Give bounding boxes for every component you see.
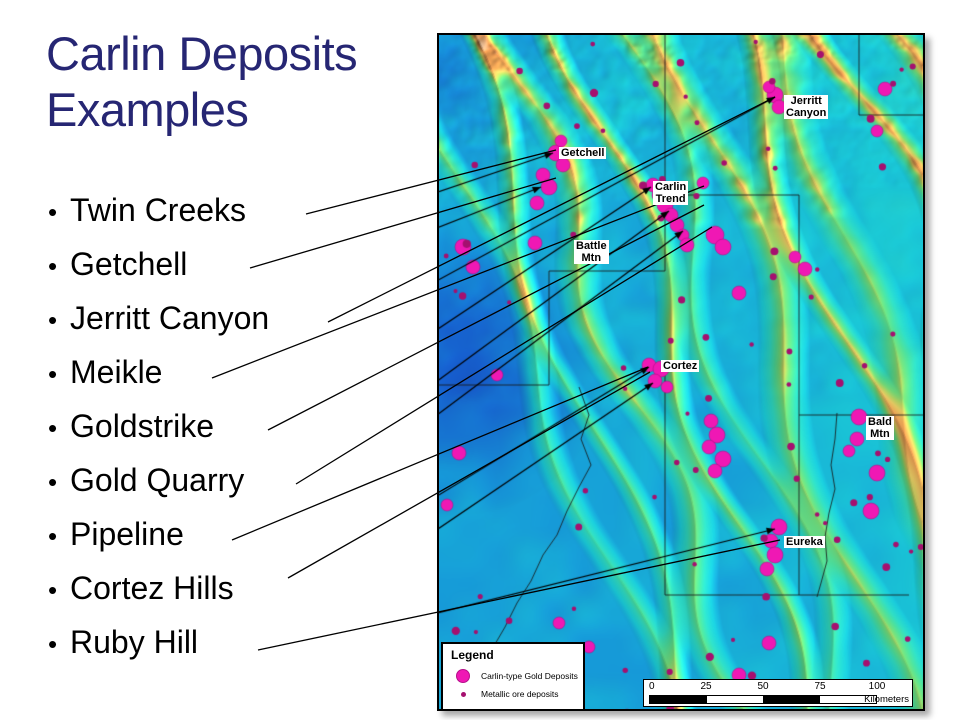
scale-tick-labels: 0 25 50 75 100 (644, 681, 912, 694)
scale-tick: 0 (649, 681, 655, 692)
bullet-icon: • (48, 249, 70, 283)
list-item-label: Pipeline (70, 515, 184, 553)
legend-entry-label: Metallic ore deposits (481, 689, 558, 699)
legend-small-dot-icon (453, 692, 473, 697)
bullet-icon: • (48, 411, 70, 445)
list-item[interactable]: • Getchell (48, 245, 408, 299)
list-item[interactable]: • Cortez Hills (48, 569, 408, 623)
bullet-icon: • (48, 519, 70, 553)
scale-bar-graphic (649, 695, 877, 704)
list-item-label: Twin Creeks (70, 191, 246, 229)
map-scale-bar: 0 25 50 75 100 Kilometers (643, 679, 913, 707)
legend-entry-metallic-ore: Metallic ore deposits (453, 689, 558, 699)
scale-tick: 50 (757, 681, 768, 692)
nevada-relief-map[interactable]: Getchell Jerritt Canyon Carlin Trend Bat… (437, 33, 925, 711)
bullet-icon: • (48, 195, 70, 229)
bullet-icon: • (48, 465, 70, 499)
list-item[interactable]: • Meikle (48, 353, 408, 407)
scale-tick: 100 (869, 681, 886, 692)
list-item-label: Gold Quarry (70, 461, 244, 499)
bullet-icon: • (48, 627, 70, 661)
list-item[interactable]: • Jerritt Canyon (48, 299, 408, 353)
map-terrain-raster (439, 35, 923, 709)
list-item[interactable]: • Pipeline (48, 515, 408, 569)
map-label-jerritt-canyon: Jerritt Canyon (784, 95, 828, 119)
map-label-getchell: Getchell (559, 147, 606, 159)
map-label-bald-mtn: Bald Mtn (866, 416, 894, 440)
list-item-label: Ruby Hill (70, 623, 198, 661)
list-item-label: Getchell (70, 245, 187, 283)
deposit-list: • Twin Creeks • Getchell • Jerritt Canyo… (48, 191, 408, 677)
scale-units-label: Kilometers (864, 694, 909, 705)
list-item-label: Meikle (70, 353, 162, 391)
scale-tick: 75 (814, 681, 825, 692)
legend-title: Legend (451, 648, 494, 662)
legend-large-circle-icon (453, 669, 473, 683)
list-item[interactable]: • Gold Quarry (48, 461, 408, 515)
list-item[interactable]: • Ruby Hill (48, 623, 408, 677)
slide-canvas: Carlin Deposits Examples • Twin Creeks •… (0, 0, 960, 720)
map-label-carlin-trend: Carlin Trend (653, 181, 688, 205)
legend-entry-carlin-type: Carlin-type Gold Deposits (453, 669, 578, 683)
legend-entry-label: Carlin-type Gold Deposits (481, 671, 578, 681)
bullet-icon: • (48, 303, 70, 337)
list-item[interactable]: • Goldstrike (48, 407, 408, 461)
list-item-label: Cortez Hills (70, 569, 234, 607)
list-item[interactable]: • Twin Creeks (48, 191, 408, 245)
bullet-icon: • (48, 573, 70, 607)
page-title: Carlin Deposits Examples (46, 26, 446, 138)
map-label-cortez: Cortez (661, 360, 699, 372)
map-label-battle-mtn: Battle Mtn (574, 240, 609, 264)
bullet-icon: • (48, 357, 70, 391)
scale-tick: 25 (700, 681, 711, 692)
map-legend: Legend Carlin-type Gold Deposits Metalli… (441, 642, 585, 711)
list-item-label: Goldstrike (70, 407, 214, 445)
map-label-eureka: Eureka (784, 536, 825, 548)
list-item-label: Jerritt Canyon (70, 299, 269, 337)
